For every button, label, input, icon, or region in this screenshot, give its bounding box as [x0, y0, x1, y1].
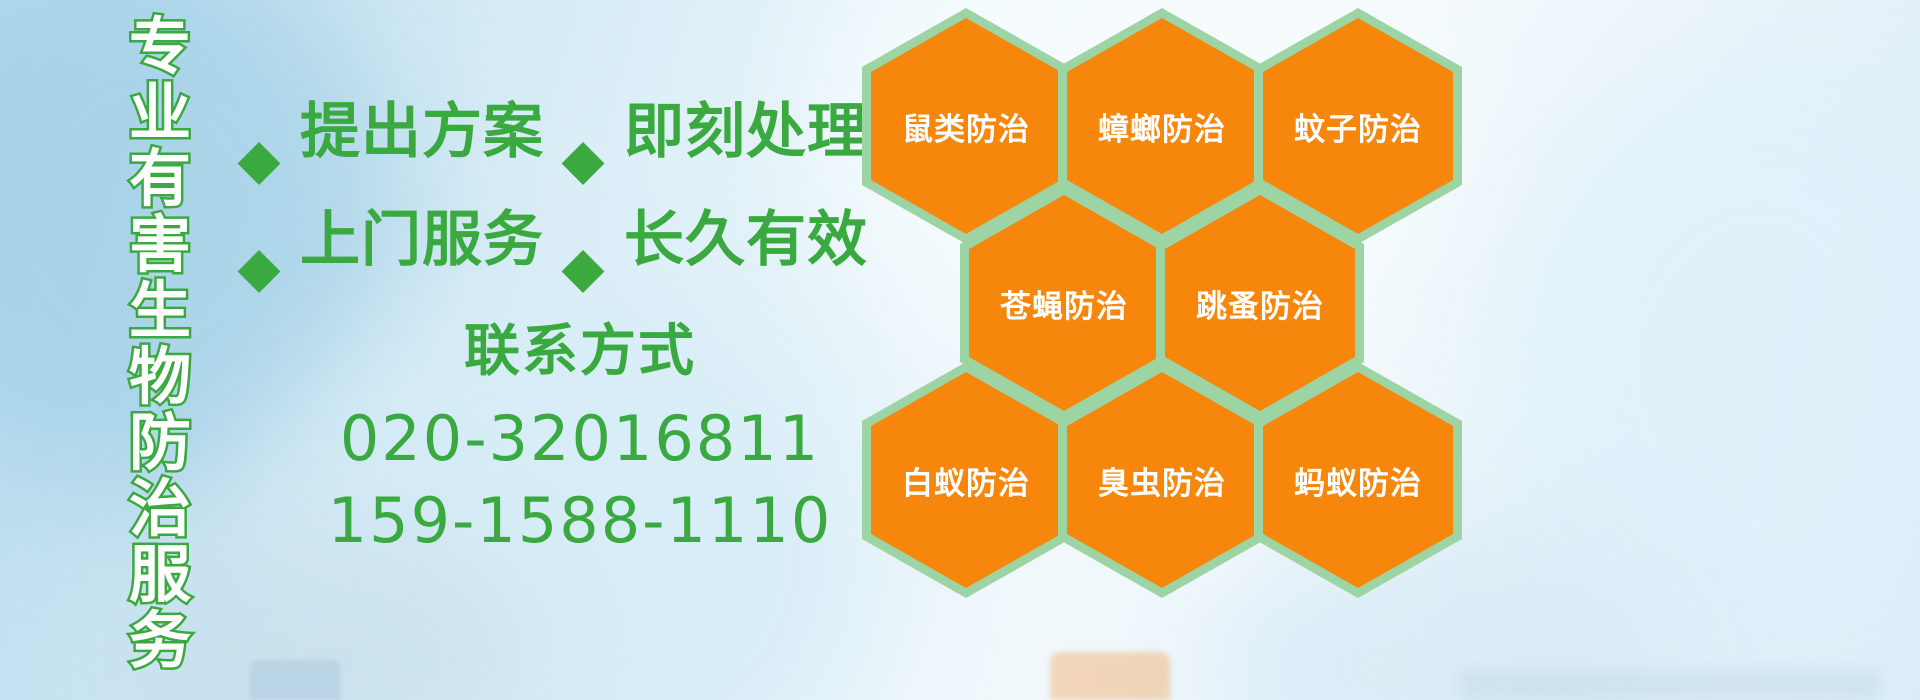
- vertical-headline-char: 害: [129, 212, 191, 278]
- service-hex-label: 鼠类防治: [902, 104, 1030, 149]
- vertical-headline-char: 服: [129, 542, 191, 608]
- vertical-headline-char: 务: [129, 608, 191, 674]
- service-hex-fill: 蟑螂防治: [1067, 18, 1257, 234]
- vertical-headline-char: 防: [129, 410, 191, 476]
- service-hex-label: 蚂蚁防治: [1294, 458, 1422, 503]
- foreground-shape-right: [1460, 670, 1880, 700]
- service-hex-fill: 蚊子防治: [1263, 18, 1453, 234]
- feature-item-long-lasting: ◆ 长久有效: [552, 210, 868, 270]
- vertical-headline-char: 物: [129, 344, 191, 410]
- pest-control-banner: 专 业 有 害 生 物 防 治 服 务 ◆ 提出方案 ◆ 即刻处理 ◆ 上门服务: [0, 0, 1920, 700]
- vertical-headline-char: 治: [129, 476, 191, 542]
- feature-item-on-site-service: ◆ 上门服务: [228, 210, 544, 270]
- vertical-headline: 专 业 有 害 生 物 防 治 服 务: [112, 14, 208, 686]
- feature-row: ◆ 提出方案 ◆ 即刻处理: [228, 78, 868, 186]
- background-blob-right: [1480, 60, 1920, 680]
- service-hex-label: 蚊子防治: [1294, 104, 1422, 149]
- vertical-headline-char: 业: [129, 80, 191, 146]
- service-hex-fill: 白蚁防治: [871, 372, 1061, 588]
- feature-item-propose-plan: ◆ 提出方案: [228, 102, 544, 162]
- service-hex-label: 蟑螂防治: [1098, 104, 1226, 149]
- service-hex-fill: 跳蚤防治: [1165, 195, 1355, 411]
- service-hex-fill: 鼠类防治: [871, 18, 1061, 234]
- service-hex-label: 跳蚤防治: [1196, 281, 1324, 326]
- vertical-headline-char: 有: [129, 146, 191, 212]
- feature-label: 提出方案: [300, 102, 544, 162]
- vertical-headline-char: 生: [129, 278, 191, 344]
- feature-row: ◆ 上门服务 ◆ 长久有效: [228, 186, 868, 294]
- service-hex-label: 白蚁防治: [902, 458, 1030, 503]
- feature-label: 即刻处理: [624, 102, 868, 162]
- vertical-headline-char: 专: [129, 14, 191, 80]
- service-hex-label: 臭虫防治: [1098, 458, 1226, 503]
- service-hexagon-cluster: 鼠类防治 蟑螂防治 蚊子防治 苍蝇防治 跳蚤防治 白蚁防: [862, 0, 1462, 700]
- feature-label: 上门服务: [300, 210, 544, 270]
- feature-item-immediate-handling: ◆ 即刻处理: [552, 102, 868, 162]
- foreground-shape-left: [250, 660, 340, 700]
- feature-label: 长久有效: [624, 210, 868, 270]
- contact-title: 联系方式: [280, 320, 880, 384]
- service-hex-fill: 臭虫防治: [1067, 372, 1257, 588]
- phone-number-mobile[interactable]: 159-1588-1110: [280, 480, 880, 562]
- feature-list: ◆ 提出方案 ◆ 即刻处理 ◆ 上门服务 ◆ 长久有效: [228, 78, 868, 294]
- service-hex-fill: 苍蝇防治: [969, 195, 1159, 411]
- service-hex-fill: 蚂蚁防治: [1263, 372, 1453, 588]
- contact-block: 联系方式 020-32016811 159-1588-1110: [280, 320, 880, 562]
- phone-number-landline[interactable]: 020-32016811: [280, 398, 880, 480]
- service-hex-label: 苍蝇防治: [1000, 281, 1128, 326]
